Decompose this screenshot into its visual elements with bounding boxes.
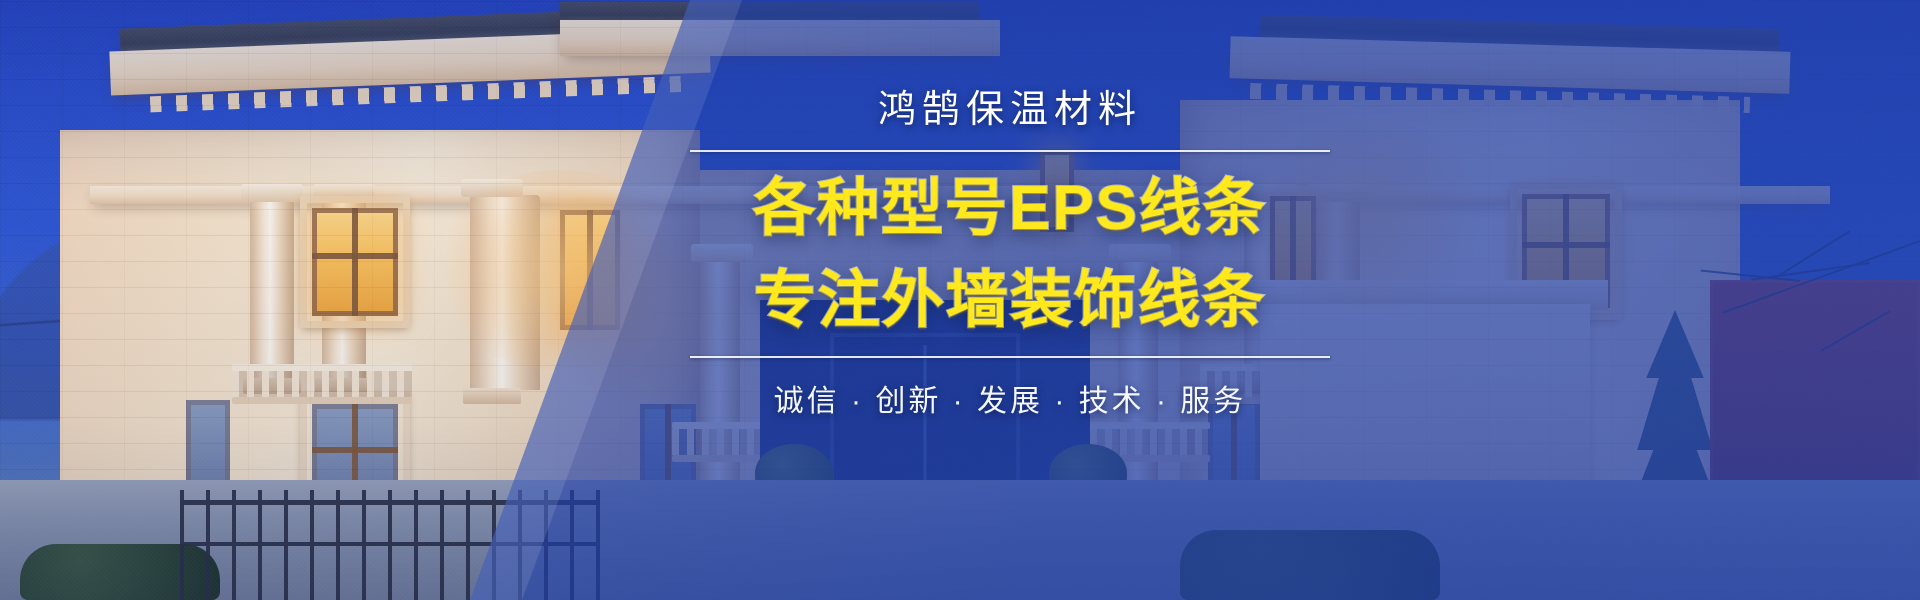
promo-banner: 鸿鹄保温材料 各种型号EPS线条 专注外墙装饰线条 诚信 · 创新 · 发展 ·… <box>0 0 1920 600</box>
headline-line-1: 各种型号EPS线条 <box>690 174 1330 244</box>
divider-bottom <box>690 356 1330 358</box>
tagline: 诚信 · 创新 · 发展 · 技术 · 服务 <box>690 376 1330 420</box>
bare-branch <box>1620 200 1920 390</box>
divider-top <box>690 150 1330 152</box>
hedge-right <box>1180 530 1440 600</box>
banner-text-block: 鸿鹄保温材料 各种型号EPS线条 专注外墙装饰线条 诚信 · 创新 · 发展 ·… <box>690 88 1330 420</box>
iron-railing <box>180 490 600 600</box>
headline-line-2: 专注外墙装饰线条 <box>690 266 1330 336</box>
brand-name: 鸿鹄保温材料 <box>690 88 1330 134</box>
